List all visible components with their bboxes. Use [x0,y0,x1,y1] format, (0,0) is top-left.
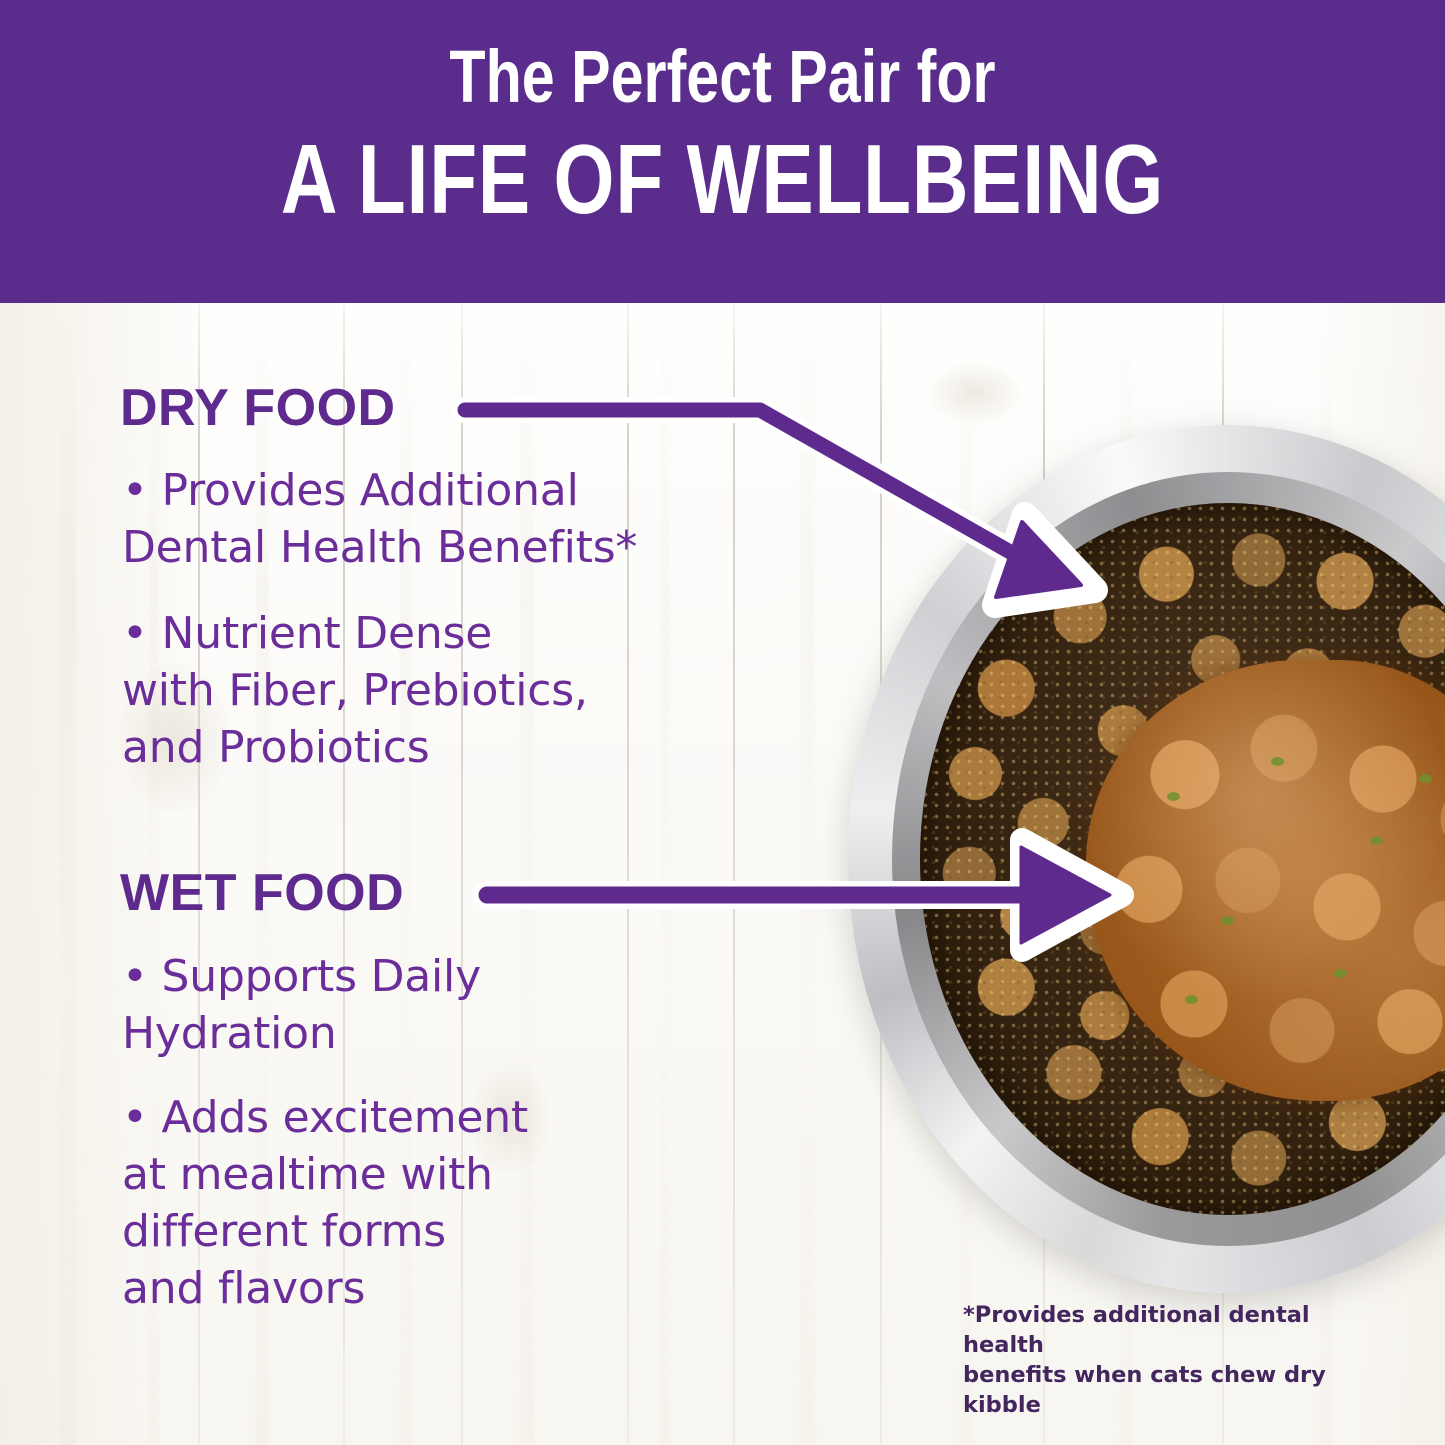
wet-food-bullet-1: • Supports Daily Hydration [122,948,802,1062]
bowl-interior [920,503,1445,1215]
promo-graphic: The Perfect Pair for A LIFE OF WELLBEING [0,0,1445,1445]
wet-food-bullet-2: • Adds excitement at mealtime with diffe… [122,1089,802,1317]
dry-food-heading: DRY FOOD [120,380,396,436]
page-title: A LIFE OF WELLBEING [145,127,1301,231]
header-subtitle: The Perfect Pair for [145,38,1301,116]
dry-food-bullet-2: • Nutrient Dense with Fiber, Prebiotics,… [122,605,802,776]
dry-food-bullet-1: • Provides Additional Dental Health Bene… [122,462,802,576]
header-band: The Perfect Pair for A LIFE OF WELLBEING [0,0,1445,303]
footnote-text: *Provides additional dental health benef… [963,1300,1393,1420]
pet-food-bowl-photo [848,425,1445,1295]
wet-food-heading: WET FOOD [120,865,404,921]
